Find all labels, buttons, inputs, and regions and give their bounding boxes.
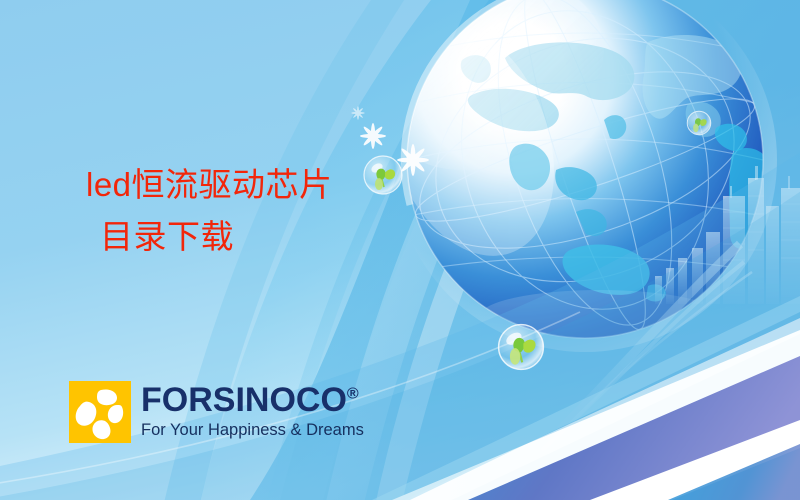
logo-wordmark-text: FORSINOCO — [141, 381, 347, 419]
registered-mark-icon: ® — [347, 386, 359, 403]
bubble-sprout-icon — [499, 325, 544, 370]
marketing-banner: led恒流驱动芯片 目录下载 FORSINOCO® For Your Happi… — [0, 0, 800, 500]
four-petal-pinwheel-icon — [69, 381, 131, 443]
logo-mark — [69, 381, 131, 443]
logo-wordmark: FORSINOCO® — [141, 383, 359, 417]
company-logo[interactable]: FORSINOCO® For Your Happiness & Dreams — [69, 381, 364, 443]
sparkle-star-icon — [351, 106, 364, 119]
logo-tagline: For Your Happiness & Dreams — [141, 422, 364, 439]
sparkle-star-icon — [360, 123, 386, 149]
headline-line-1: led恒流驱动芯片 — [86, 163, 416, 207]
headline-text: led恒流驱动芯片 目录下载 — [86, 163, 416, 258]
headline-line-2: 目录下载 — [86, 215, 416, 259]
logo-text-block: FORSINOCO® For Your Happiness & Dreams — [141, 381, 364, 439]
bubble-sprout-icon — [687, 111, 711, 135]
